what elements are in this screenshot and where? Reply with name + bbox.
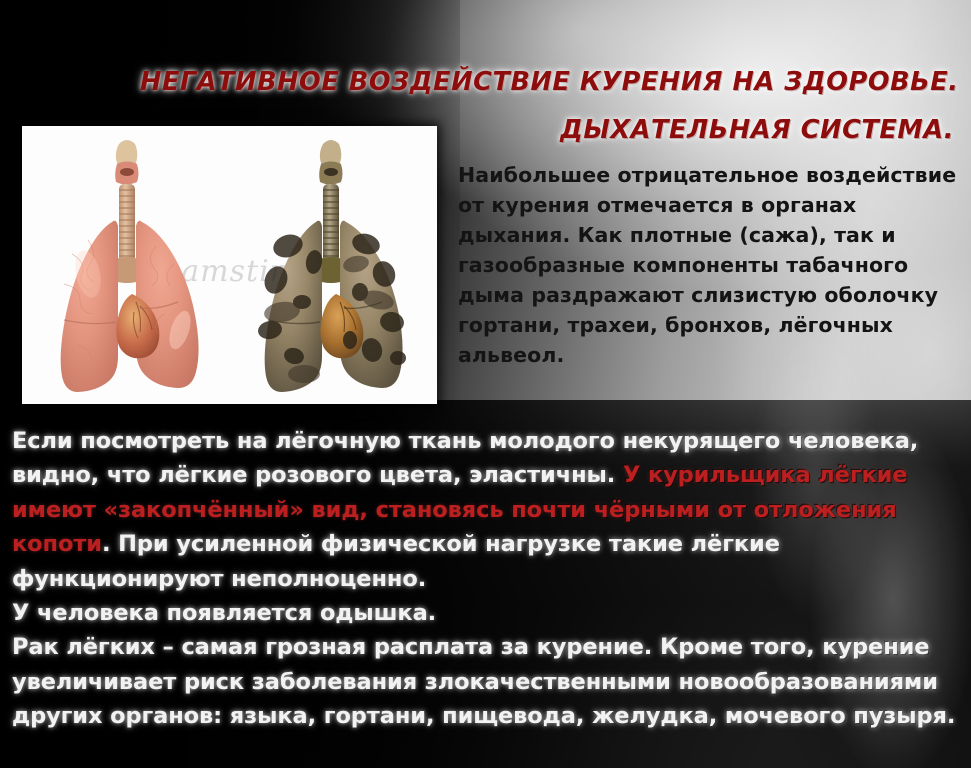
body-paragraph-2: У человека появляется одышка. [12,596,964,630]
healthy-lungs-illustration [28,134,224,400]
lungs-comparison-photo: dreamstime [22,126,437,404]
body-paragraph-3: Рак лёгких – самая грозная расплата за к… [12,630,964,733]
diseased-lungs-illustration [232,134,428,400]
intro-paragraph: Наибольшее отрицательное воздействие от … [458,160,963,370]
title-line-primary: НЕГАТИВНОЕ ВОЗДЕЙСТВИЕ КУРЕНИЯ НА ЗДОРОВ… [140,70,960,96]
slide-canvas: НЕГАТИВНОЕ ВОЗДЕЙСТВИЕ КУРЕНИЯ НА ЗДОРОВ… [0,0,971,768]
body-text-block: Если посмотреть на лёгочную ткань молодо… [12,424,964,734]
body-paragraph-1: Если посмотреть на лёгочную ткань молодо… [12,424,964,596]
body-p1-white-end: . При усиленной физической нагрузке таки… [12,531,780,591]
